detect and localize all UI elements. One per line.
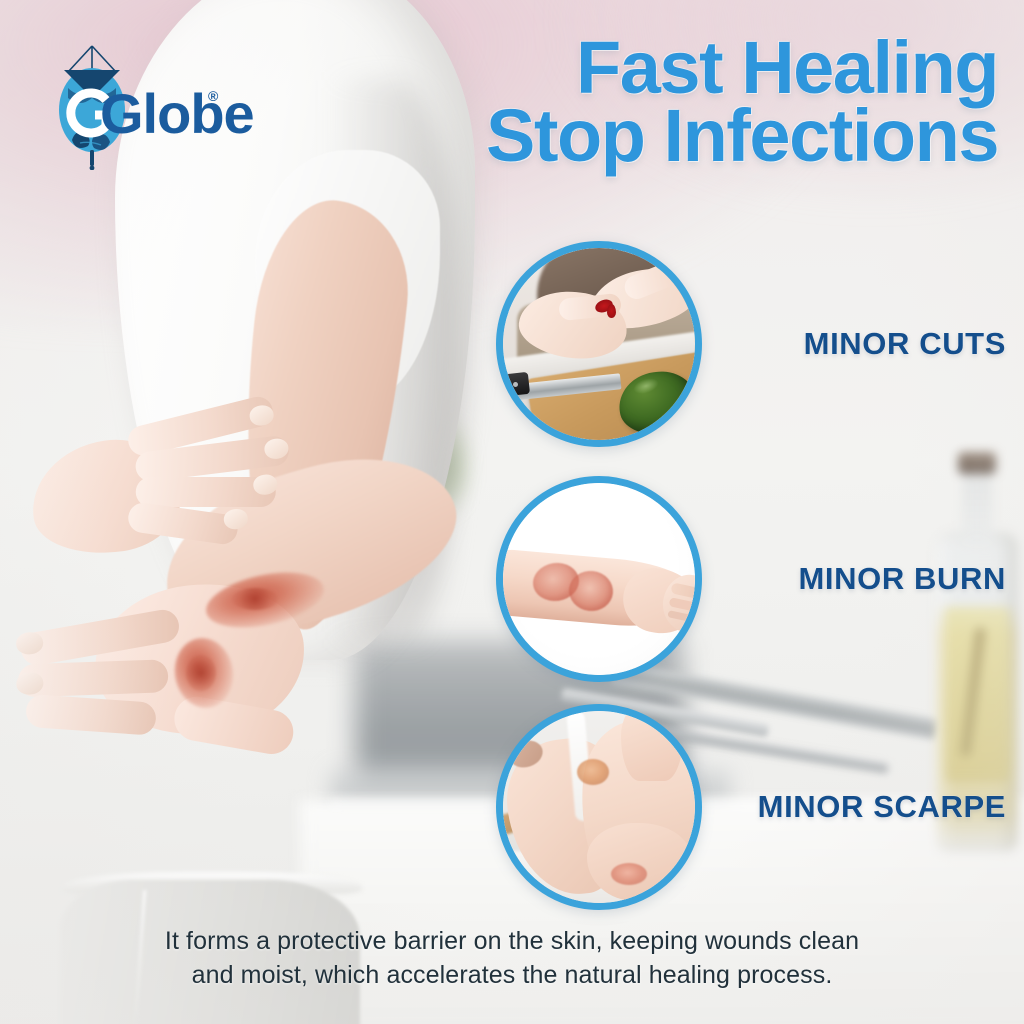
burned-forearm-photo-icon [496,476,702,682]
blood-drop-2 [607,304,616,318]
feature-item-minor-burn[interactable]: MINOR BURN [496,476,1016,686]
knife-rivet-2 [513,382,518,387]
feature-label-minor-burn: MINOR BURN [734,476,1016,682]
blister-2 [611,863,647,885]
feature-item-minor-scrape[interactable]: MINOR SCARPE [496,704,1016,914]
advertisement-poster: Globe ® Fast Healing Stop Infections [0,0,1024,1024]
feature-label-text: MINOR BURN [799,561,1007,597]
feature-label-minor-scrape: MINOR SCARPE [734,704,1016,910]
cut-finger-kitchen-photo-icon [496,241,702,447]
right-ankle [621,711,683,781]
feature-label-text: MINOR CUTS [804,326,1006,362]
caption-line-2: and moist, which accelerates the natural… [62,959,962,993]
trademark-symbol: ® [208,88,218,104]
description-caption: It forms a protective barrier on the ski… [62,925,962,992]
headline-line-2: Stop Infections [358,102,998,170]
feature-label-text: MINOR SCARPE [758,789,1006,825]
brand-name: Globe [100,86,254,142]
page-title: Fast Healing Stop Infections [358,34,998,170]
caption-line-1: It forms a protective barrier on the ski… [62,925,962,959]
feature-label-minor-cuts: MINOR CUTS [734,241,1016,447]
brand-logo[interactable]: Globe ® [56,42,236,172]
feature-item-minor-cuts[interactable]: MINOR CUTS [496,241,1016,451]
blistered-heels-photo-icon [496,704,702,910]
blister-1 [577,759,609,785]
